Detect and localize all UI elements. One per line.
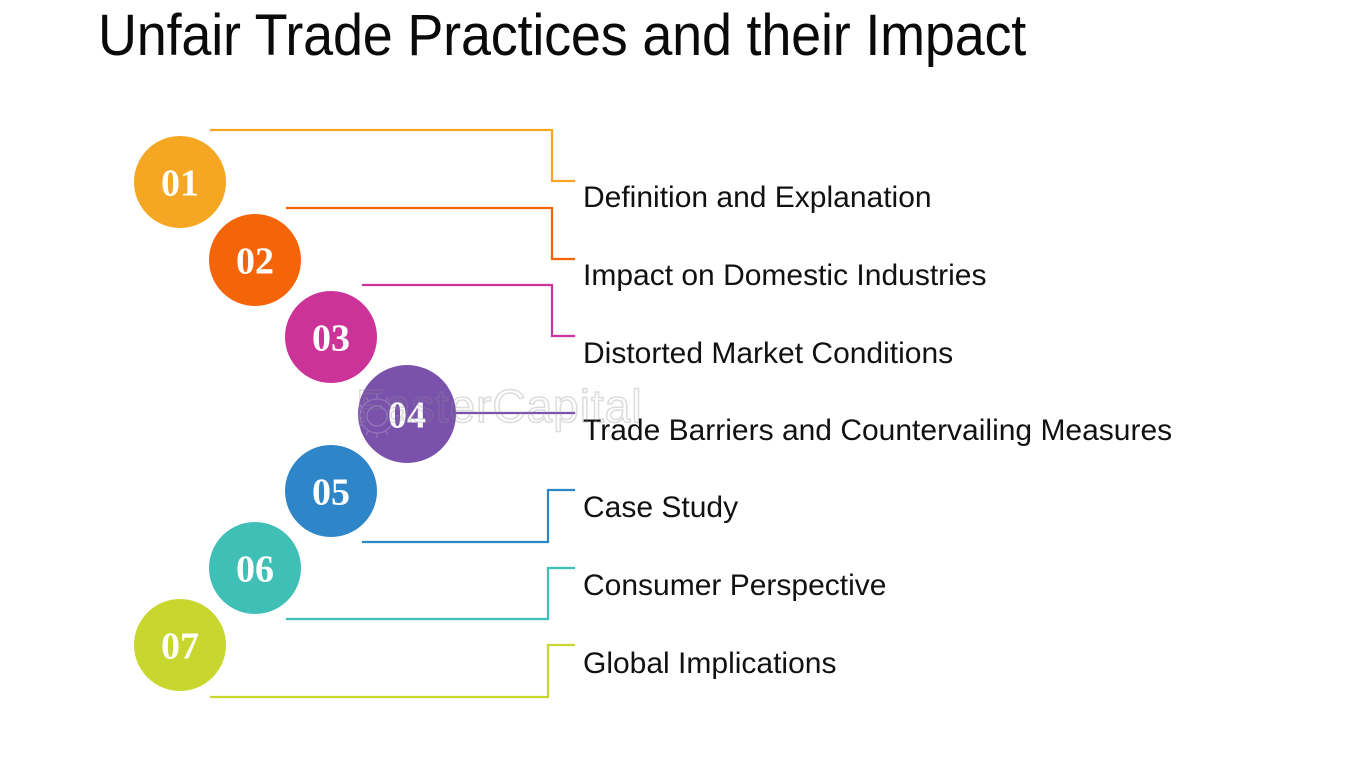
step-number-04: 04 — [388, 394, 426, 436]
connector-line-02 — [287, 208, 574, 259]
step-number-03: 03 — [312, 317, 350, 359]
connector-line-05 — [363, 490, 574, 542]
connector-line-06 — [287, 568, 574, 619]
connector-line-01 — [211, 130, 574, 181]
step-number-05: 05 — [312, 471, 350, 513]
step-number-02: 02 — [236, 240, 274, 282]
step-label-01[interactable]: Definition and Explanation — [583, 181, 932, 214]
step-label-04[interactable]: Trade Barriers and Countervailing Measur… — [583, 414, 1172, 447]
step-number-01: 01 — [161, 162, 199, 204]
connector-line-03 — [363, 285, 574, 336]
process-diagram: 01020304050607 Definition and Explanatio… — [0, 0, 1350, 759]
step-label-07[interactable]: Global Implications — [583, 647, 836, 680]
step-label-03[interactable]: Distorted Market Conditions — [583, 337, 953, 370]
step-number-06: 06 — [236, 548, 274, 590]
connector-line-07 — [211, 645, 574, 697]
step-label-05[interactable]: Case Study — [583, 491, 738, 524]
circle-group: 01020304050607 — [134, 136, 456, 691]
label-group: Definition and ExplanationImpact on Dome… — [583, 181, 1172, 680]
slide-canvas: Unfair Trade Practices and their Impact … — [0, 0, 1350, 759]
step-label-06[interactable]: Consumer Perspective — [583, 569, 886, 602]
step-number-07: 07 — [161, 625, 199, 667]
step-label-02[interactable]: Impact on Domestic Industries — [583, 259, 987, 292]
